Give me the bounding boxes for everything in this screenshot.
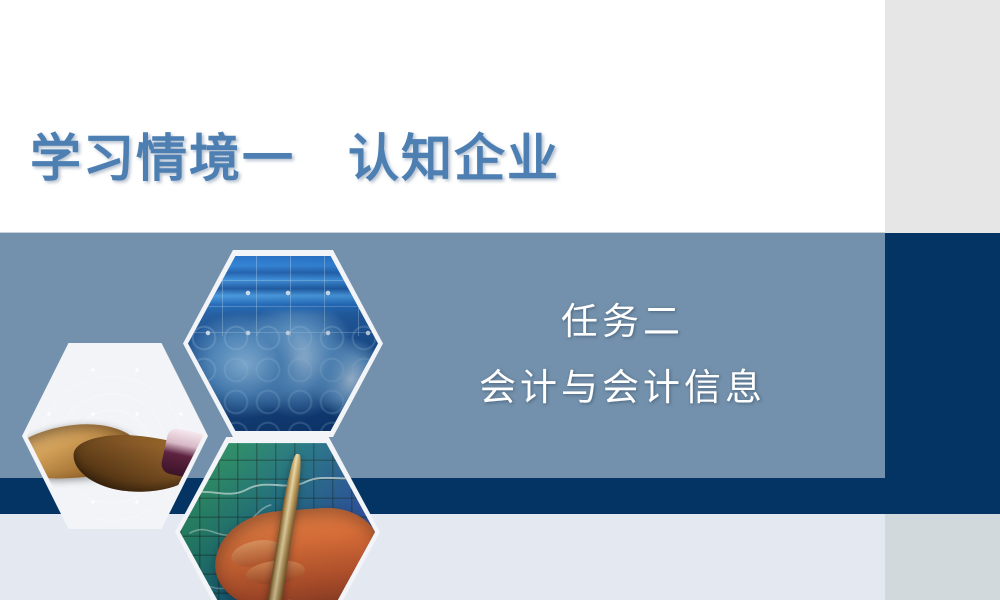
subtitle-group: 任务二 会计与会计信息 (400, 300, 845, 413)
hexagon-image-handshake-inner (27, 348, 203, 524)
background-navy-right-column (885, 233, 1000, 514)
presentation-slide: 学习情境一 认知企业 任务二 会计与会计信息 (0, 0, 1000, 600)
image-shading-overlay (188, 255, 378, 432)
subtitle-task-label: 任务二 (400, 300, 845, 346)
background-gray-bottom-right (885, 514, 1000, 600)
background-white-panel (0, 0, 885, 233)
page-title: 学习情境一 认知企业 (30, 132, 560, 188)
hexagon-image-business-meeting-inner (188, 255, 378, 432)
background-gray-top-right (885, 0, 1000, 233)
handshake-artwork (27, 348, 203, 524)
subtitle-topic-label: 会计与会计信息 (400, 366, 845, 412)
business-meeting-artwork (188, 255, 378, 432)
